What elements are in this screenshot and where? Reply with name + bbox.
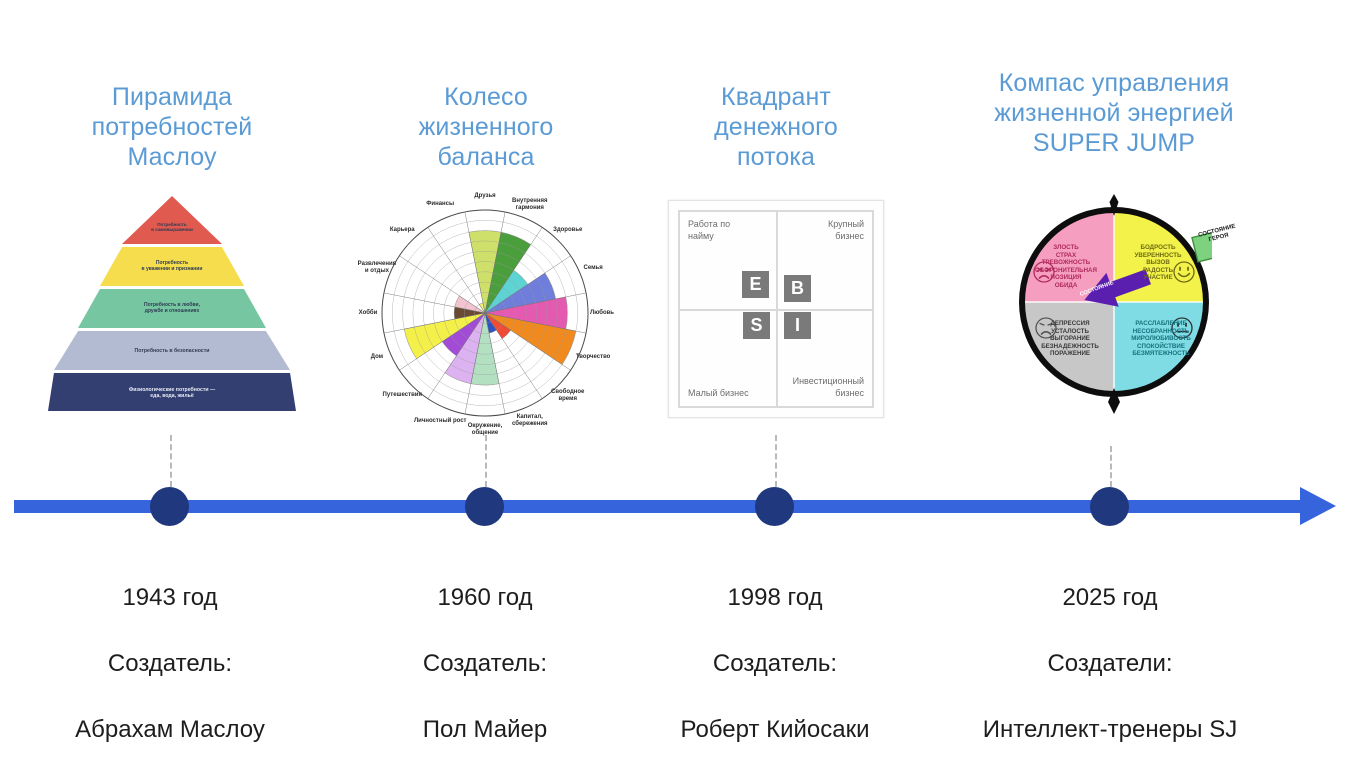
caption-1998: 1998 год Создатель: Роберт Кийосаки bbox=[635, 548, 915, 779]
column-title-quadrant: Квадрант денежного потока bbox=[640, 82, 912, 172]
quadrant-letter-i: I bbox=[784, 312, 811, 339]
wheel-sector-label: Любовь bbox=[575, 310, 629, 317]
caption-1998-year: 1998 год bbox=[635, 581, 915, 614]
caption-1998-creator-label: Создатель: bbox=[635, 647, 915, 680]
column-title-maslow: Пирамида потребностей Маслоу bbox=[36, 82, 308, 172]
wheel-of-life-balance: ДрузьяВнутренняя гармонияЗдоровьеСемьяЛю… bbox=[360, 196, 610, 424]
compass-words-hero: БОДРОСТЬ УВЕРЕННОСТЬ ВЫЗОВ РАДОСТЬ УЧАСТ… bbox=[1120, 244, 1196, 282]
timeline-node-1943[interactable] bbox=[150, 487, 189, 526]
caption-1960-creator: Пол Майер bbox=[345, 713, 625, 746]
compass-words-anger: ЗЛОСТЬ СТРАХ ТРЕВОЖНОСТЬ ОБОРОНИТЕЛЬНАЯ … bbox=[1028, 244, 1104, 290]
quadrant-divider-horizontal bbox=[680, 309, 872, 311]
pyramid-level-1-label: Потребность в самовыражении bbox=[122, 212, 222, 242]
pyramid-level-2-label: Потребность в уважении и признании bbox=[100, 253, 244, 281]
timeline-stem-4 bbox=[1110, 446, 1112, 487]
caption-1960-year: 1960 год bbox=[345, 581, 625, 614]
quadrant-label-bigbusiness: Крупный бизнес bbox=[828, 219, 864, 242]
timeline-node-2025[interactable] bbox=[1090, 487, 1129, 526]
compass-svg bbox=[1016, 170, 1212, 434]
quadrant-label-employee: Работа по найму bbox=[688, 219, 730, 242]
column-title-wheel: Колесо жизненного баланса bbox=[350, 82, 622, 172]
wheel-sector-label: Внутренняя гармония bbox=[503, 198, 557, 212]
pyramid-level-4-label: Потребность в безопасности bbox=[54, 339, 290, 363]
wheel-sector-label: Финансы bbox=[413, 201, 467, 208]
pyramid-level-5-label: Физиологические потребности — еда, вода,… bbox=[48, 379, 296, 407]
caption-2025-creator-label: Создатели: bbox=[960, 647, 1260, 680]
wheel-sector-label: Хобби bbox=[341, 310, 395, 317]
timeline-node-1998[interactable] bbox=[755, 487, 794, 526]
compass-words-calm: РАССЛАБЛЕНИЕ НЕСОБРАННОСТЬ МИРОЛЮБИВОСТЬ… bbox=[1120, 320, 1202, 358]
caption-2025-year: 2025 год bbox=[960, 581, 1260, 614]
caption-2025: 2025 год Создатели: Интеллект-тренеры SJ bbox=[960, 548, 1260, 779]
caption-1943-creator: Абрахам Маслоу bbox=[30, 713, 310, 746]
quadrant-letter-e: E bbox=[742, 271, 769, 298]
pyramid-level-3-label: Потребность в любви, дружбе и отношениях bbox=[78, 295, 266, 323]
quadrant-letter-b: B bbox=[784, 275, 811, 302]
wheel-sector-label: Свободное время bbox=[541, 389, 595, 403]
quadrant-label-smallbusiness: Малый бизнес bbox=[688, 388, 749, 400]
quadrant-label-investor: Инвестиционный бизнес bbox=[793, 376, 864, 399]
super-jump-compass: СОСТОЯНИЕ ГЕРОЯ СОСТОЯНИЕ ЗЛОСТЬ СТРАХ Т… bbox=[1016, 170, 1212, 434]
timeline-arrowhead-icon bbox=[1300, 487, 1336, 525]
caption-2025-creator: Интеллект-тренеры SJ bbox=[960, 713, 1260, 746]
wheel-sector-label: Семья bbox=[566, 265, 620, 272]
maslow-pyramid: Потребность в самовыражении Потребность … bbox=[48, 196, 296, 418]
caption-1943: 1943 год Создатель: Абрахам Маслоу bbox=[30, 548, 310, 779]
wheel-sector-label: Личностный рост bbox=[413, 418, 467, 425]
quadrant-frame: Работа по найму Крупный бизнес Малый биз… bbox=[678, 210, 874, 408]
timeline-stem-1 bbox=[170, 435, 172, 487]
caption-1998-creator: Роберт Кийосаки bbox=[635, 713, 915, 746]
caption-1960-creator-label: Создатель: bbox=[345, 647, 625, 680]
timeline-node-1960[interactable] bbox=[465, 487, 504, 526]
timeline-stem-3 bbox=[775, 435, 777, 487]
caption-1943-creator-label: Создатель: bbox=[30, 647, 310, 680]
wheel-sector-label: Дом bbox=[350, 354, 404, 361]
wheel-sector-label: Карьера bbox=[375, 227, 429, 234]
wheel-sector-label: Путешествия bbox=[375, 392, 429, 399]
timeline-stem-2 bbox=[485, 435, 487, 487]
wheel-sector-label: Творчество bbox=[566, 354, 620, 361]
caption-1943-year: 1943 год bbox=[30, 581, 310, 614]
caption-1960: 1960 год Создатель: Пол Майер bbox=[345, 548, 625, 779]
wheel-sector-label: Здоровье bbox=[541, 227, 595, 234]
wheel-sector-label: Развлечения и отдых bbox=[350, 261, 404, 275]
column-title-compass: Компас управления жизненной энергией SUP… bbox=[962, 68, 1266, 158]
infographic-timeline: Пирамида потребностей Маслоу Колесо жизн… bbox=[0, 0, 1366, 758]
compass-words-burnout: ДЕПРЕССИЯ УСТАЛОСТЬ ВЫГОРАНИЕ БЕЗНАДЕЖНО… bbox=[1032, 320, 1108, 358]
quadrant-letter-s: S bbox=[743, 312, 770, 339]
cashflow-quadrant: Работа по найму Крупный бизнес Малый биз… bbox=[668, 200, 884, 418]
